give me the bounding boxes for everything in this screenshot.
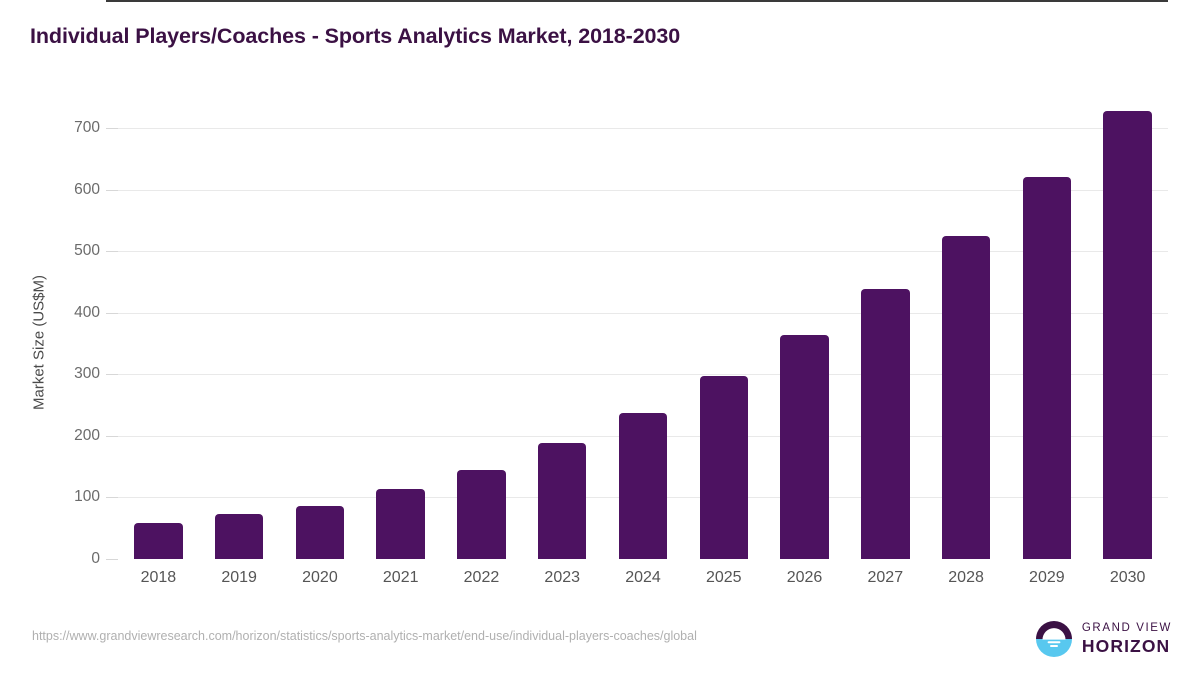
bar-2023[interactable] (538, 443, 586, 559)
bar-2019[interactable] (215, 514, 263, 559)
x-axis-line (106, 0, 1168, 2)
chart-plot-area: Market Size (US$M) 010020030040050060070… (0, 0, 1200, 675)
x-axis-tick-label-2029: 2029 (1029, 569, 1065, 587)
logo-line-1: GRAND VIEW (1082, 623, 1172, 635)
x-axis-tick-label-2027: 2027 (868, 569, 904, 587)
bar-2029[interactable] (1023, 177, 1071, 559)
bar-2028[interactable] (942, 236, 990, 559)
x-axis-tick-label-2028: 2028 (948, 569, 984, 587)
bar-2022[interactable] (457, 470, 505, 559)
bar-2027[interactable] (861, 289, 909, 559)
chart-screenshot: Individual Players/Coaches - Sports Anal… (0, 0, 1200, 675)
bar-2021[interactable] (376, 489, 424, 559)
bar-2030[interactable] (1103, 111, 1151, 559)
x-axis-tick-label-2020: 2020 (302, 569, 338, 587)
x-axis-tick-label-2019: 2019 (221, 569, 257, 587)
x-axis-tick-label-2026: 2026 (787, 569, 823, 587)
x-axis-tick-label-2022: 2022 (464, 569, 500, 587)
bar-2024[interactable] (619, 413, 667, 559)
bar-2018[interactable] (134, 523, 182, 559)
bar-2026[interactable] (780, 335, 828, 559)
bar-2025[interactable] (700, 376, 748, 559)
x-axis-tick-label-2021: 2021 (383, 569, 419, 587)
bar-2020[interactable] (296, 506, 344, 559)
logo-wordmark: GRAND VIEW HORIZON (1082, 623, 1172, 655)
bar-series (0, 0, 1200, 675)
x-axis-tick-label-2018: 2018 (141, 569, 177, 587)
x-axis-tick-label-2025: 2025 (706, 569, 742, 587)
brand-logo: GRAND VIEW HORIZON (1035, 620, 1172, 658)
horizon-circle-icon (1035, 620, 1073, 658)
x-axis-tick-label-2023: 2023 (544, 569, 580, 587)
x-axis-tick-label-2030: 2030 (1110, 569, 1146, 587)
source-url[interactable]: https://www.grandviewresearch.com/horizo… (32, 629, 697, 643)
logo-line-2: HORIZON (1082, 638, 1172, 656)
x-axis-tick-label-2024: 2024 (625, 569, 661, 587)
